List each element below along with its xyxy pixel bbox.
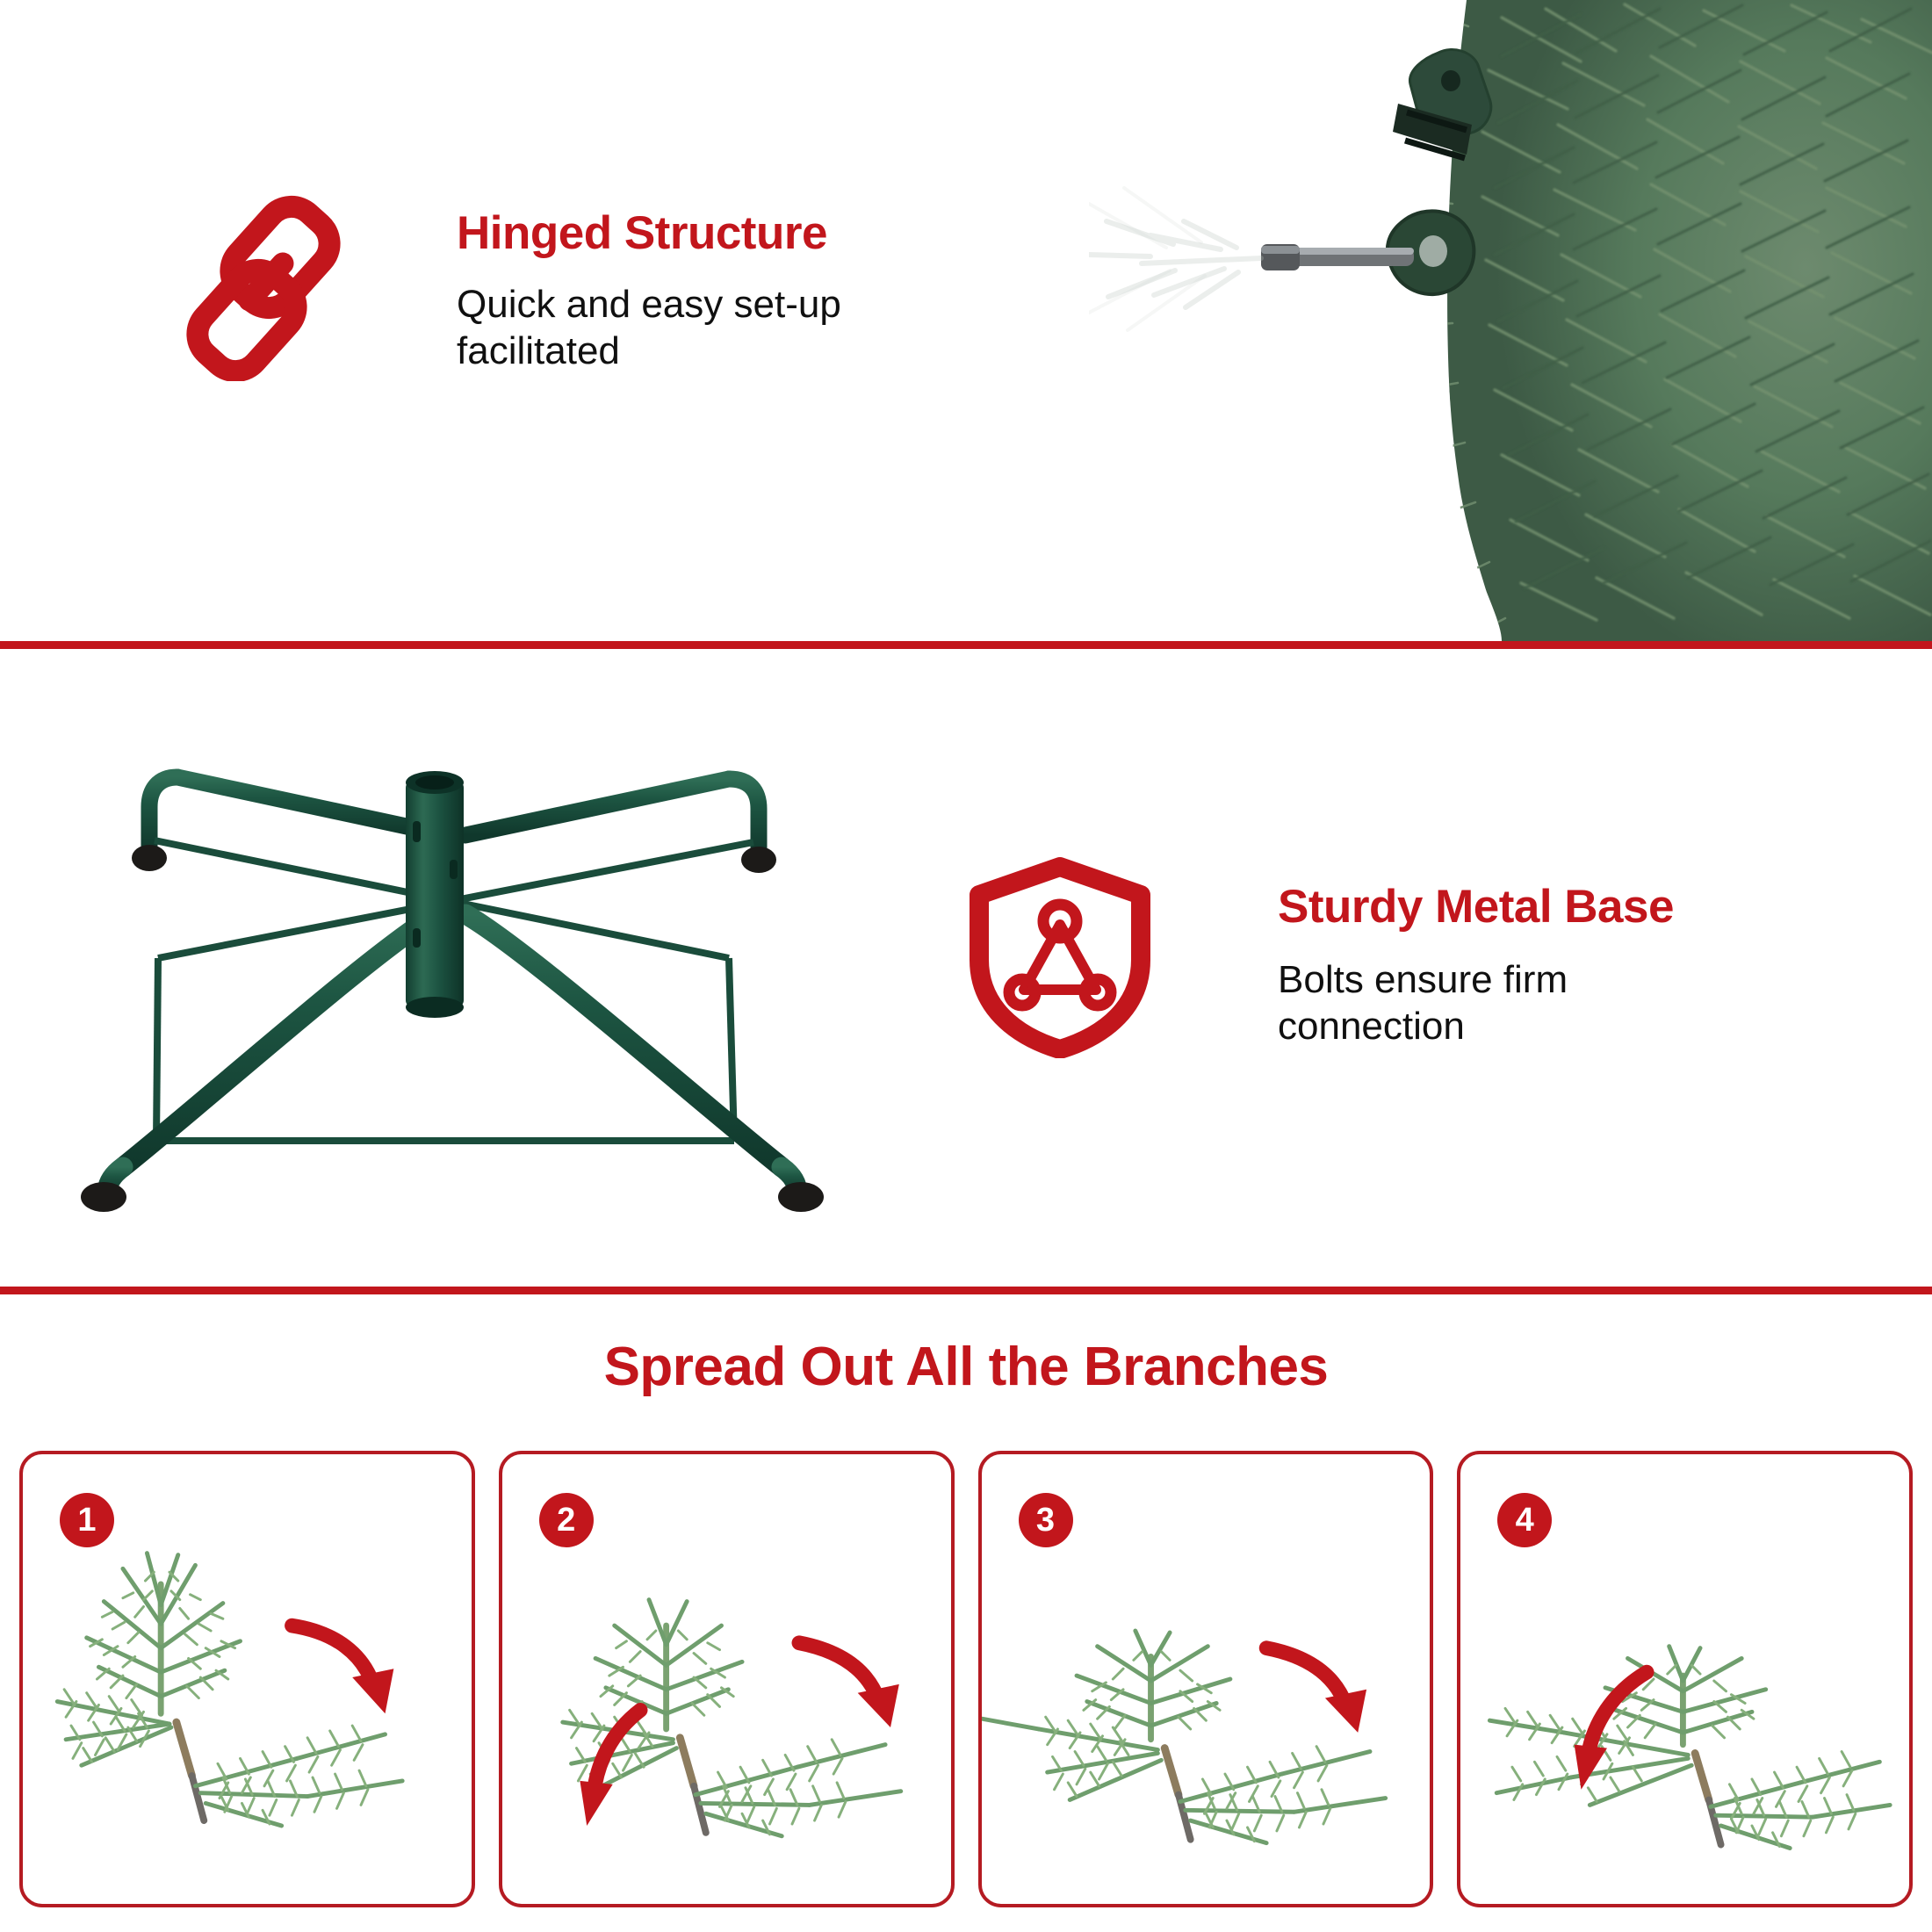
section-divider-2 [0,1287,1932,1294]
sturdy-metal-base-body: Bolts ensure firm connection [1278,956,1674,1050]
step-card-2[interactable]: 2 [499,1451,955,1907]
feature-section-sturdy-metal-base: Sturdy Metal Base Bolts ensure firm conn… [0,649,1932,1287]
shield-tripod-icon [966,856,1154,1058]
step-number-badge-1: 1 [60,1493,114,1547]
hinge-branch-closeup-photo [1089,0,1932,641]
curved-arrow-down-right-3 [1266,1648,1366,1733]
step-number-badge-2: 2 [539,1493,594,1547]
tree-stand-art [26,728,843,1220]
step-card-list: 1 [19,1451,1913,1907]
step-card-1[interactable]: 1 [19,1451,475,1907]
green-metal-tree-stand-photo [26,728,843,1220]
step-card-4[interactable]: 4 [1457,1451,1913,1907]
section-divider-1 [0,641,1932,649]
sturdy-metal-base-body-line-1: Bolts ensure firm [1278,956,1674,1004]
hinged-structure-body: Quick and easy set-up facilitated [457,281,841,375]
spread-branches-title: Spread Out All the Branches [0,1336,1932,1398]
infographic-page: Hinged Structure Quick and easy set-up f… [0,0,1932,1932]
curved-arrow-down-right-1 [292,1626,393,1713]
curved-arrow-down-right-2 [799,1643,899,1727]
shield-tripod-icon-art [966,856,1154,1058]
step-card-3[interactable]: 3 [978,1451,1434,1907]
chain-link-icon-art [172,195,357,381]
tree-photo-art [1089,0,1932,641]
hinged-structure-text-block: Hinged Structure Quick and easy set-up f… [457,209,841,375]
sturdy-metal-base-body-line-2: connection [1278,1003,1674,1050]
spread-branches-section: Spread Out All the Branches 1 [0,1294,1932,1932]
feature-section-hinged-structure: Hinged Structure Quick and easy set-up f… [0,0,1932,641]
hinged-structure-title: Hinged Structure [457,209,841,258]
step-number-badge-4: 4 [1497,1493,1552,1547]
chain-link-icon [172,195,357,381]
hinged-structure-body-line-1: Quick and easy set-up [457,281,841,328]
sturdy-metal-base-title: Sturdy Metal Base [1278,883,1674,932]
step-number-badge-3: 3 [1019,1493,1073,1547]
hinged-structure-body-line-2: facilitated [457,328,841,375]
sturdy-metal-base-text-block: Sturdy Metal Base Bolts ensure firm conn… [1278,883,1674,1050]
